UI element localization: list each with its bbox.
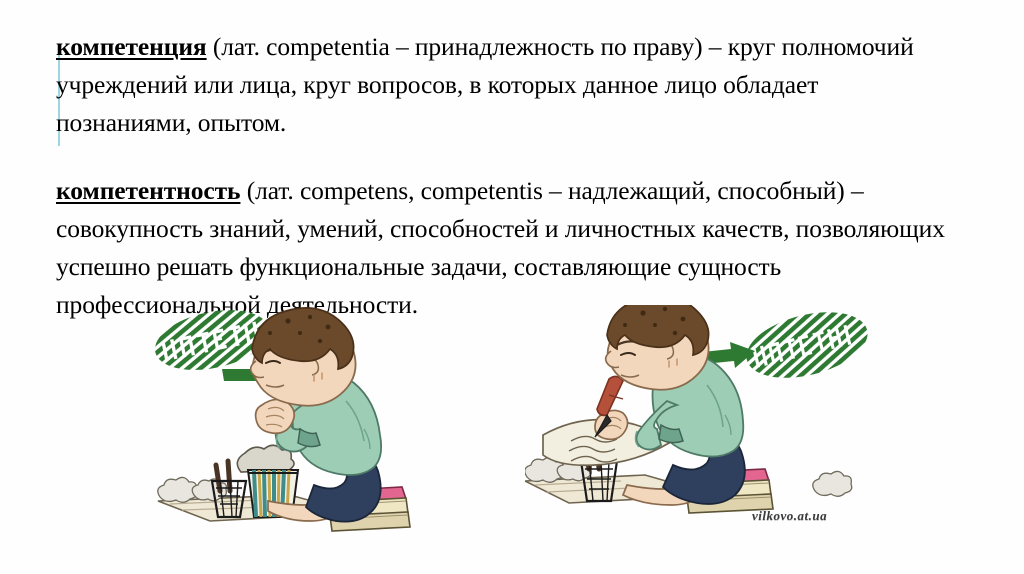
watermark-site-url: vilkovo.at.ua (752, 508, 827, 524)
illustrations-row (0, 305, 1024, 574)
slide-canvas: компетенция (лат. competentia – принадле… (0, 0, 1024, 574)
term-kompetenciya: компетенция (56, 32, 207, 61)
illustration-left-thinking-man (150, 305, 415, 550)
definitions-text-block: компетенция (лат. competentia – принадле… (56, 28, 956, 324)
definition-paragraph-competency: компетенция (лат. competentia – принадле… (56, 28, 956, 142)
word-bubble-right (740, 305, 875, 389)
term-kompetentnost: компетентность (56, 176, 240, 205)
definition-paragraph-competence: компетентность (лат. competens, competen… (56, 172, 956, 324)
